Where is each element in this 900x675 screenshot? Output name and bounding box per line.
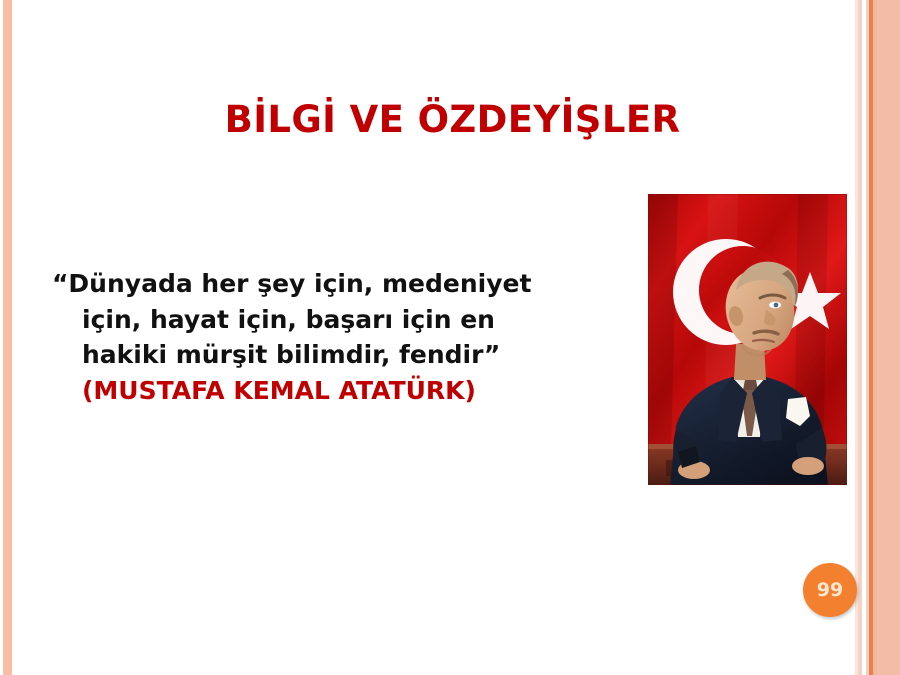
page-number-badge: 99 bbox=[803, 563, 857, 617]
decorative-stripe-left bbox=[3, 0, 12, 675]
slide-title: BİLGİ VE ÖZDEYİŞLER bbox=[60, 98, 845, 142]
quote-paragraph: “Dünyada her şey için, medeniyet için, h… bbox=[52, 266, 587, 408]
quote-attribution: (MUSTAFA KEMAL ATATÜRK) bbox=[82, 376, 476, 405]
decorative-stripe-right-7 bbox=[877, 0, 900, 675]
quote-text: “Dünyada her şey için, medeniyet için, h… bbox=[52, 269, 531, 369]
presentation-slide: BİLGİ VE ÖZDEYİŞLER “Dünyada her şey içi… bbox=[0, 0, 900, 675]
ataturk-portrait-image bbox=[648, 194, 847, 485]
